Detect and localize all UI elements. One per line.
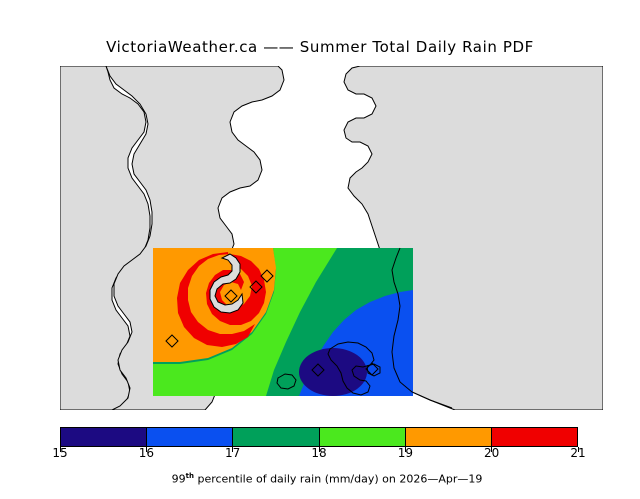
colorbar-segment-navy bbox=[61, 428, 146, 446]
map-canvas bbox=[60, 66, 603, 410]
colorbar-segment-orange bbox=[405, 428, 491, 446]
colorbar-segment-teal bbox=[232, 428, 318, 446]
colorbar-segment-blue bbox=[146, 428, 232, 446]
colorbar-label-19: 19 bbox=[398, 446, 413, 460]
colorbar bbox=[60, 427, 578, 447]
map-panel bbox=[60, 66, 603, 410]
colorbar-tick-labels: 15161718192021 bbox=[0, 446, 640, 460]
colorbar-segment-red bbox=[491, 428, 577, 446]
colorbar-label-15: 15 bbox=[52, 446, 67, 460]
contour-field bbox=[153, 248, 413, 396]
weather-map-figure: VictoriaWeather.ca —— Summer Total Daily… bbox=[0, 0, 640, 480]
colorbar-segments bbox=[60, 427, 578, 447]
colorbar-label-18: 18 bbox=[311, 446, 326, 460]
caption-prefix: 99 bbox=[172, 473, 186, 486]
page-title: VictoriaWeather.ca —— Summer Total Daily… bbox=[0, 38, 640, 56]
band-15-16 bbox=[299, 348, 367, 396]
caption-superscript: th bbox=[186, 472, 194, 480]
colorbar-segment-green bbox=[319, 428, 405, 446]
colorbar-label-21: 21 bbox=[570, 446, 585, 460]
figure-caption: 99th percentile of daily rain (mm/day) o… bbox=[0, 459, 640, 499]
colorbar-label-17: 17 bbox=[225, 446, 240, 460]
colorbar-label-20: 20 bbox=[484, 446, 499, 460]
colorbar-label-16: 16 bbox=[139, 446, 154, 460]
caption-suffix: percentile of daily rain (mm/day) on 202… bbox=[194, 473, 482, 486]
